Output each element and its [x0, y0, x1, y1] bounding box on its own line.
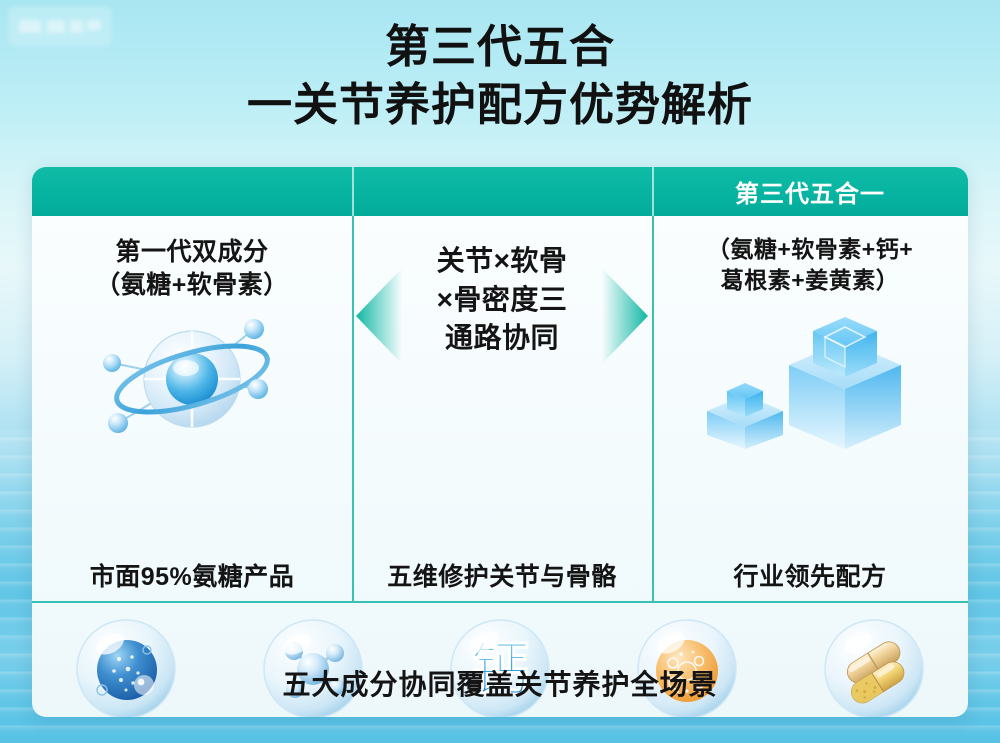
- right-arrow-icon: [602, 268, 648, 364]
- column-2-heading: 关节×软骨 ×骨密度三 通路协同: [437, 242, 568, 358]
- column-3-illustration-area: [652, 295, 968, 601]
- column-third-generation: （氨糖+软骨素+钙+ 葛根素+姜黄素）: [652, 216, 968, 601]
- tagline: 五大成分协同覆盖关节养护全场景: [32, 663, 968, 703]
- page-title: 第三代五合 一关节养护配方优势解析: [0, 18, 1000, 133]
- header-divider-2: [652, 167, 654, 216]
- column-3-heading-line-2: 葛根素+姜黄素）: [707, 265, 913, 296]
- header-cell-2: [352, 167, 652, 216]
- left-arrow-icon: [356, 268, 402, 364]
- column-2-heading-line-2: ×骨密度三: [437, 281, 568, 320]
- column-1-heading-line-2: （氨糖+软骨素）: [95, 269, 289, 302]
- ascending-cube-bars-icon: [697, 299, 927, 449]
- column-1-heading: 第一代双成分 （氨糖+软骨素）: [95, 236, 289, 303]
- card-header-bar: 第三代五合一: [32, 167, 968, 216]
- column-first-generation: 第一代双成分 （氨糖+软骨素）: [32, 216, 352, 601]
- header-cell-3: 第三代五合一: [652, 167, 968, 216]
- header-cell-1: [32, 167, 352, 216]
- column-synergy: 关节×软骨 ×骨密度三 通路协同 五维修护关节与骨骼: [352, 216, 652, 601]
- column-1-heading-line-1: 第一代双成分: [95, 236, 289, 269]
- column-1-caption: 市面95%氨糖产品: [32, 557, 352, 593]
- infographic-stage: 第三代五合 一关节养护配方优势解析 第三代五合一 第一代双成分 （氨糖+软骨素）: [0, 0, 1000, 743]
- column-2-heading-line-1: 关节×软骨: [437, 242, 568, 281]
- column-3-heading-line-1: （氨糖+软骨素+钙+: [707, 234, 913, 265]
- column-2-caption: 五维修护关节与骨骼: [352, 557, 652, 593]
- column-3-heading: （氨糖+软骨素+钙+ 葛根素+姜黄素）: [707, 234, 913, 295]
- title-line-2: 一关节养护配方优势解析: [0, 76, 1000, 134]
- comparison-card: 第三代五合一 第一代双成分 （氨糖+软骨素）: [32, 167, 968, 717]
- atom-molecule-sphere-icon: [92, 305, 292, 453]
- title-line-1: 第三代五合: [0, 18, 1000, 76]
- column-2-heading-line-3: 通路协同: [437, 319, 568, 358]
- comparison-columns: 第一代双成分 （氨糖+软骨素）: [32, 216, 968, 601]
- column-3-caption: 行业领先配方: [652, 557, 968, 593]
- header-divider-1: [352, 167, 354, 216]
